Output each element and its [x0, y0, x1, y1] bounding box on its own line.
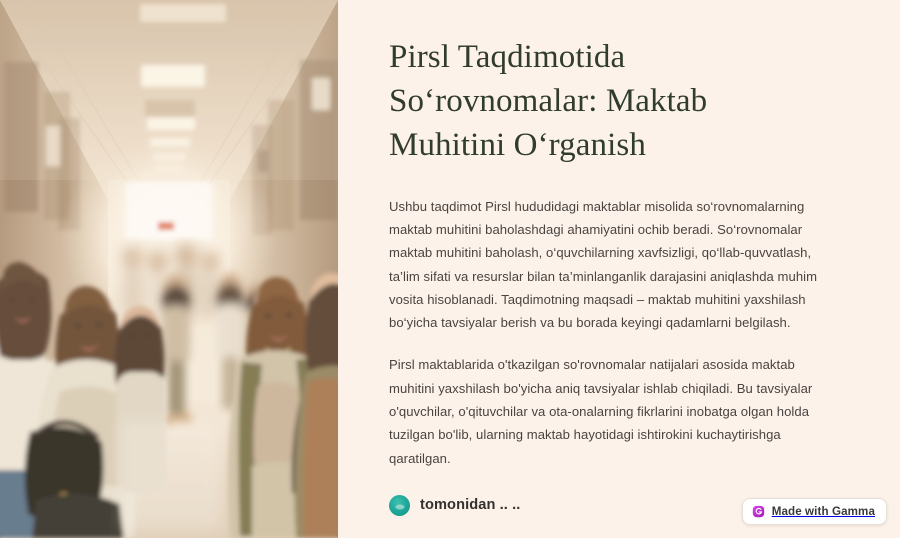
byline-author: tomonidan .. ..	[420, 497, 520, 513]
page-title: Pirsl Taqdimotida So‘rovnomalar: Maktab …	[389, 36, 789, 168]
gamma-badge-label: Made with Gamma	[772, 505, 875, 518]
school-hallway-students-photo	[0, 0, 338, 538]
intro-paragraph-2: Pirsl maktablarida o'tkazilgan so'rovnom…	[389, 353, 833, 469]
slide-photo	[0, 0, 338, 538]
intro-paragraph-1: Ushbu taqdimot Pirsl hududidagi maktabla…	[389, 195, 833, 335]
gamma-logo-icon	[752, 505, 765, 518]
made-with-gamma-badge[interactable]: Made with Gamma	[742, 498, 887, 525]
slide-content: Pirsl Taqdimotida So‘rovnomalar: Maktab …	[338, 0, 900, 538]
presentation-slide: Pirsl Taqdimotida So‘rovnomalar: Maktab …	[0, 0, 900, 538]
user-avatar-icon	[389, 495, 410, 516]
